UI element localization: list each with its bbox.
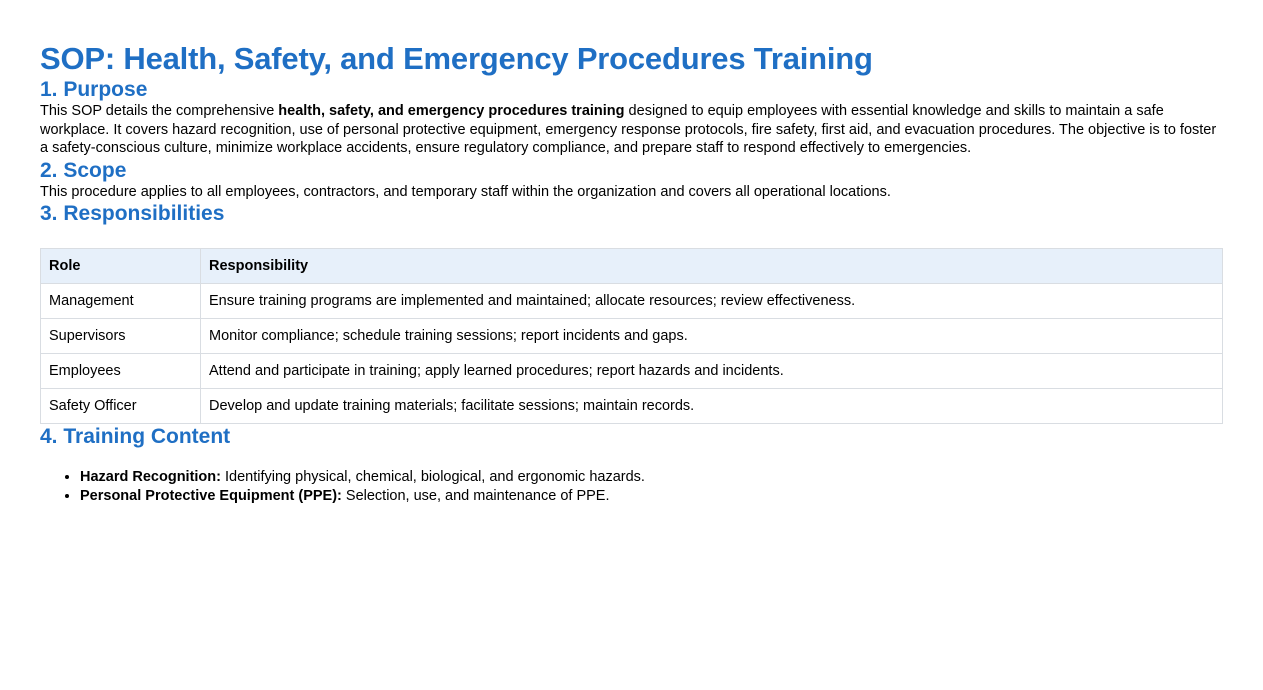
cell-responsibility: Develop and update training materials; f…: [201, 389, 1223, 424]
cell-responsibility: Attend and participate in training; appl…: [201, 354, 1223, 389]
training-content-list: Hazard Recognition: Identifying physical…: [40, 450, 1223, 506]
list-item: Hazard Recognition: Identifying physical…: [80, 468, 1223, 487]
cell-role: Supervisors: [41, 319, 201, 354]
list-item-description: Identifying physical, chemical, biologic…: [221, 469, 645, 485]
section-heading-scope: 2. Scope: [40, 158, 1223, 183]
page-title: SOP: Health, Safety, and Emergency Proce…: [40, 0, 1223, 77]
scope-paragraph: This procedure applies to all employees,…: [40, 183, 1223, 201]
table-header-row: Role Responsibility: [41, 249, 1223, 284]
purpose-text-lead: This SOP details the comprehensive: [40, 103, 278, 119]
cell-responsibility: Ensure training programs are implemented…: [201, 284, 1223, 319]
purpose-text-emphasis: health, safety, and emergency procedures…: [278, 103, 624, 119]
table-row: Supervisors Monitor compliance; schedule…: [41, 319, 1223, 354]
column-header-role: Role: [41, 249, 201, 284]
list-item-term: Hazard Recognition:: [80, 469, 221, 485]
cell-role: Employees: [41, 354, 201, 389]
table-row: Safety Officer Develop and update traini…: [41, 389, 1223, 424]
purpose-paragraph: This SOP details the comprehensive healt…: [40, 102, 1223, 157]
cell-role: Safety Officer: [41, 389, 201, 424]
table-header: Role Responsibility: [41, 249, 1223, 284]
cell-responsibility: Monitor compliance; schedule training se…: [201, 319, 1223, 354]
table-body: Management Ensure training programs are …: [41, 284, 1223, 424]
document-page: SOP: Health, Safety, and Emergency Proce…: [0, 0, 1263, 506]
table-row: Management Ensure training programs are …: [41, 284, 1223, 319]
cell-role: Management: [41, 284, 201, 319]
section-heading-purpose: 1. Purpose: [40, 77, 1223, 102]
column-header-responsibility: Responsibility: [201, 249, 1223, 284]
section-heading-responsibilities: 3. Responsibilities: [40, 201, 1223, 226]
list-item-term: Personal Protective Equipment (PPE):: [80, 488, 342, 504]
table-row: Employees Attend and participate in trai…: [41, 354, 1223, 389]
responsibilities-table: Role Responsibility Management Ensure tr…: [40, 248, 1223, 424]
list-item: Personal Protective Equipment (PPE): Sel…: [80, 487, 1223, 506]
list-item-description: Selection, use, and maintenance of PPE.: [342, 488, 610, 504]
section-heading-training-content: 4. Training Content: [40, 424, 1223, 449]
